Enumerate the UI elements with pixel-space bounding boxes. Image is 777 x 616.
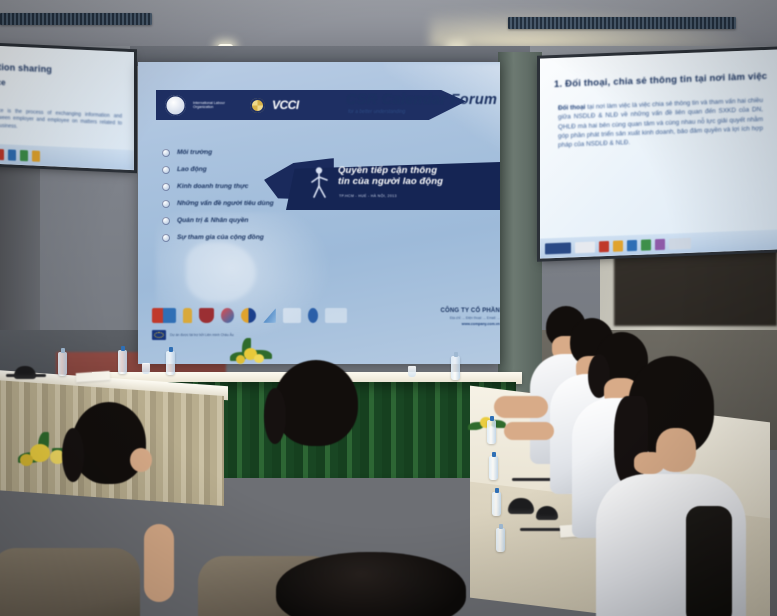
- water-bottle: [118, 350, 127, 374]
- sponsor-logo-icon: [263, 308, 276, 323]
- sponsor-logo-icon: [669, 237, 691, 249]
- list-item: Sự tham gia của cộng đồng: [162, 229, 342, 246]
- air-vent-icon: [0, 13, 152, 25]
- ribbon-title-line1: Quyền tiếp cận thông: [338, 165, 498, 176]
- sponsor-trophy-icon: [183, 308, 192, 323]
- vcci-logo-icon: [575, 241, 595, 253]
- forum-tagline: for a better understanding: [348, 109, 500, 115]
- bullet-label: Sự tham gia của cộng đồng: [177, 234, 264, 241]
- sponsor-logo-icon: [0, 148, 4, 159]
- sponsor-note-label: Dự án được tài trợ bởi Liên minh Châu Âu: [170, 333, 234, 337]
- company-contact: Địa chỉ: ... Điện thoại: ... Email: ...: [400, 316, 500, 321]
- right-projection-screen: 1. Đối thoại, chia sẻ thông tin tại nơi …: [540, 49, 777, 258]
- water-bottle: [496, 528, 505, 552]
- sponsor-logo-icon: [221, 308, 234, 323]
- vcci-mark-icon: [250, 98, 265, 113]
- bullet-icon: [162, 200, 170, 208]
- bullet-label: Môi trường: [177, 149, 212, 156]
- sponsor-logo-icon: [8, 149, 16, 160]
- sponsor-logo-icon: [241, 308, 256, 323]
- bullet-icon: [162, 234, 170, 242]
- list-item: Quản trị & Nhân quyền: [162, 212, 342, 229]
- vcci-label: VCCI: [272, 98, 299, 112]
- bullet-icon: [162, 183, 170, 191]
- bullet-icon: [162, 166, 170, 174]
- drinking-glass: [142, 363, 150, 374]
- company-block: CÔNG TY CỔ PHẦN Địa chỉ: ... Điện thoại:…: [400, 308, 500, 326]
- bullet-icon: [162, 217, 170, 225]
- interpretation-headset: [508, 498, 534, 514]
- ilo-label: International Labour Organization: [193, 101, 243, 110]
- sponsor-crest-icon: [199, 308, 214, 323]
- right-slide-lead: Đối thoại: [558, 104, 585, 112]
- attendee-row-right: [492, 340, 562, 450]
- ribbon-title: Quyền tiếp cận thông tin của người lao đ…: [338, 165, 498, 187]
- sponsor-logo-icon: [599, 240, 609, 251]
- sponsor-logo-icon: [613, 240, 623, 251]
- ilo-seal-icon: [165, 95, 186, 116]
- interpretation-headset: [536, 506, 558, 520]
- company-website: www.company.com.vn: [400, 322, 500, 326]
- water-bottle: [58, 352, 67, 376]
- left-projection-screen: ...formation sharing ...orkplace at the …: [0, 44, 134, 170]
- water-bottle: [489, 456, 498, 480]
- forum-title: CSR Calendar Forum: [346, 92, 500, 108]
- eu-flag-icon: [152, 330, 166, 340]
- ribbon-subtitle: TP.HCM - HUẾ - HÀ NỘI, 2013: [339, 194, 489, 198]
- drinking-glass: [408, 366, 416, 377]
- water-bottle: [166, 351, 175, 375]
- sponsor-logo-icon: [20, 149, 28, 160]
- sponsor-logo-icon: [32, 150, 40, 161]
- bullet-label: Kinh doanh trung thực: [177, 183, 248, 190]
- water-bottle: [492, 492, 501, 516]
- sponsor-logo-icon: [641, 239, 651, 250]
- list-item: Môi trường: [162, 144, 342, 161]
- sponsor-logo-icon: [655, 238, 665, 249]
- table-microphone: [520, 528, 564, 531]
- bullet-icon: [162, 149, 170, 157]
- interpretation-headset: [14, 366, 36, 379]
- sponsor-flag-icon: [152, 308, 176, 323]
- event-backdrop-banner: International Labour Organization VCCI C…: [138, 62, 500, 364]
- worker-figure-icon: [308, 166, 330, 202]
- conference-photo: ...formation sharing ...orkplace at the …: [0, 0, 777, 616]
- bullet-label: Lao động: [177, 166, 207, 173]
- sponsor-logo-icon: [308, 308, 318, 323]
- right-slide-text: tại nơi làm việc là việc chia sẻ thông t…: [558, 97, 763, 149]
- attendee-white-shirt-right: [600, 356, 750, 616]
- water-bottle: [451, 356, 460, 380]
- sponsor-logo-icon: [283, 308, 301, 323]
- bullet-label: Những vấn đề người tiêu dùng: [177, 200, 274, 207]
- sponsor-logo-icon: [325, 308, 347, 323]
- sponsor-logo-row: [152, 308, 392, 323]
- air-vent-icon: [508, 17, 736, 29]
- sponsor-logo-icon: [627, 239, 637, 250]
- company-name: CÔNG TY CỔ PHẦN: [400, 308, 500, 314]
- bullet-label: Quản trị & Nhân quyền: [177, 217, 248, 224]
- attendee-foreground: [276, 552, 466, 616]
- ribbon-title-line2: tin của người lao động: [338, 176, 498, 187]
- chair-back: [0, 548, 140, 616]
- right-slide-body: Đối thoại tại nơi làm việc là việc chia …: [558, 96, 763, 150]
- ilo-logo-icon: [545, 242, 571, 254]
